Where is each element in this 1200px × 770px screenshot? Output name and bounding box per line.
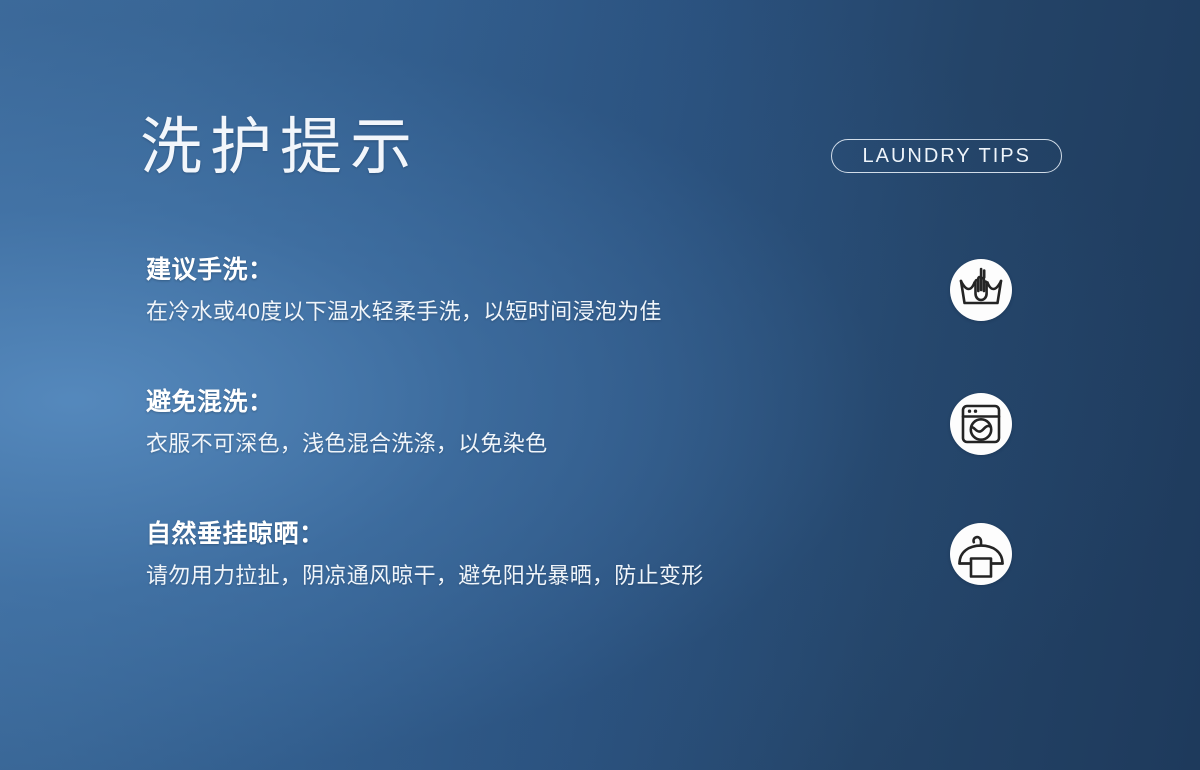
tip-item-hand-wash: 建议手洗： 在冷水或40度以下温水轻柔手洗，以短时间浸泡为佳 — [0, 252, 1200, 384]
tip-description: 衣服不可深色，浅色混合洗涤，以免染色 — [146, 428, 906, 460]
tip-title: 避免混洗： — [146, 384, 906, 420]
laundry-tips-poster: 洗护提示 LAUNDRY TIPS 建议手洗： 在冷水或40度以下温水轻柔手洗，… — [0, 0, 1200, 770]
tip-title: 自然垂挂晾晒： — [146, 516, 906, 552]
tip-text-block: 避免混洗： 衣服不可深色，浅色混合洗涤，以免染色 — [146, 384, 906, 460]
hanger-icon — [950, 523, 1012, 585]
badge-label: LAUNDRY TIPS — [862, 145, 1031, 168]
laundry-tips-badge: LAUNDRY TIPS — [831, 139, 1062, 173]
tip-item-avoid-mixing: 避免混洗： 衣服不可深色，浅色混合洗涤，以免染色 — [0, 384, 1200, 516]
tip-title: 建议手洗： — [146, 252, 906, 288]
tips-list: 建议手洗： 在冷水或40度以下温水轻柔手洗，以短时间浸泡为佳 避免混 — [0, 252, 1200, 648]
page-title: 洗护提示 — [140, 108, 420, 188]
washing-machine-icon — [950, 393, 1012, 455]
poster-header: 洗护提示 LAUNDRY TIPS — [0, 108, 1200, 200]
tip-description: 请勿用力拉扯，阴凉通风晾干，避免阳光暴晒，防止变形 — [146, 560, 906, 592]
tip-description: 在冷水或40度以下温水轻柔手洗，以短时间浸泡为佳 — [146, 296, 906, 328]
tip-item-air-dry: 自然垂挂晾晒： 请勿用力拉扯，阴凉通风晾干，避免阳光暴晒，防止变形 — [0, 516, 1200, 648]
tip-text-block: 自然垂挂晾晒： 请勿用力拉扯，阴凉通风晾干，避免阳光暴晒，防止变形 — [146, 516, 906, 592]
hand-wash-icon — [950, 259, 1012, 321]
tip-text-block: 建议手洗： 在冷水或40度以下温水轻柔手洗，以短时间浸泡为佳 — [146, 252, 906, 328]
